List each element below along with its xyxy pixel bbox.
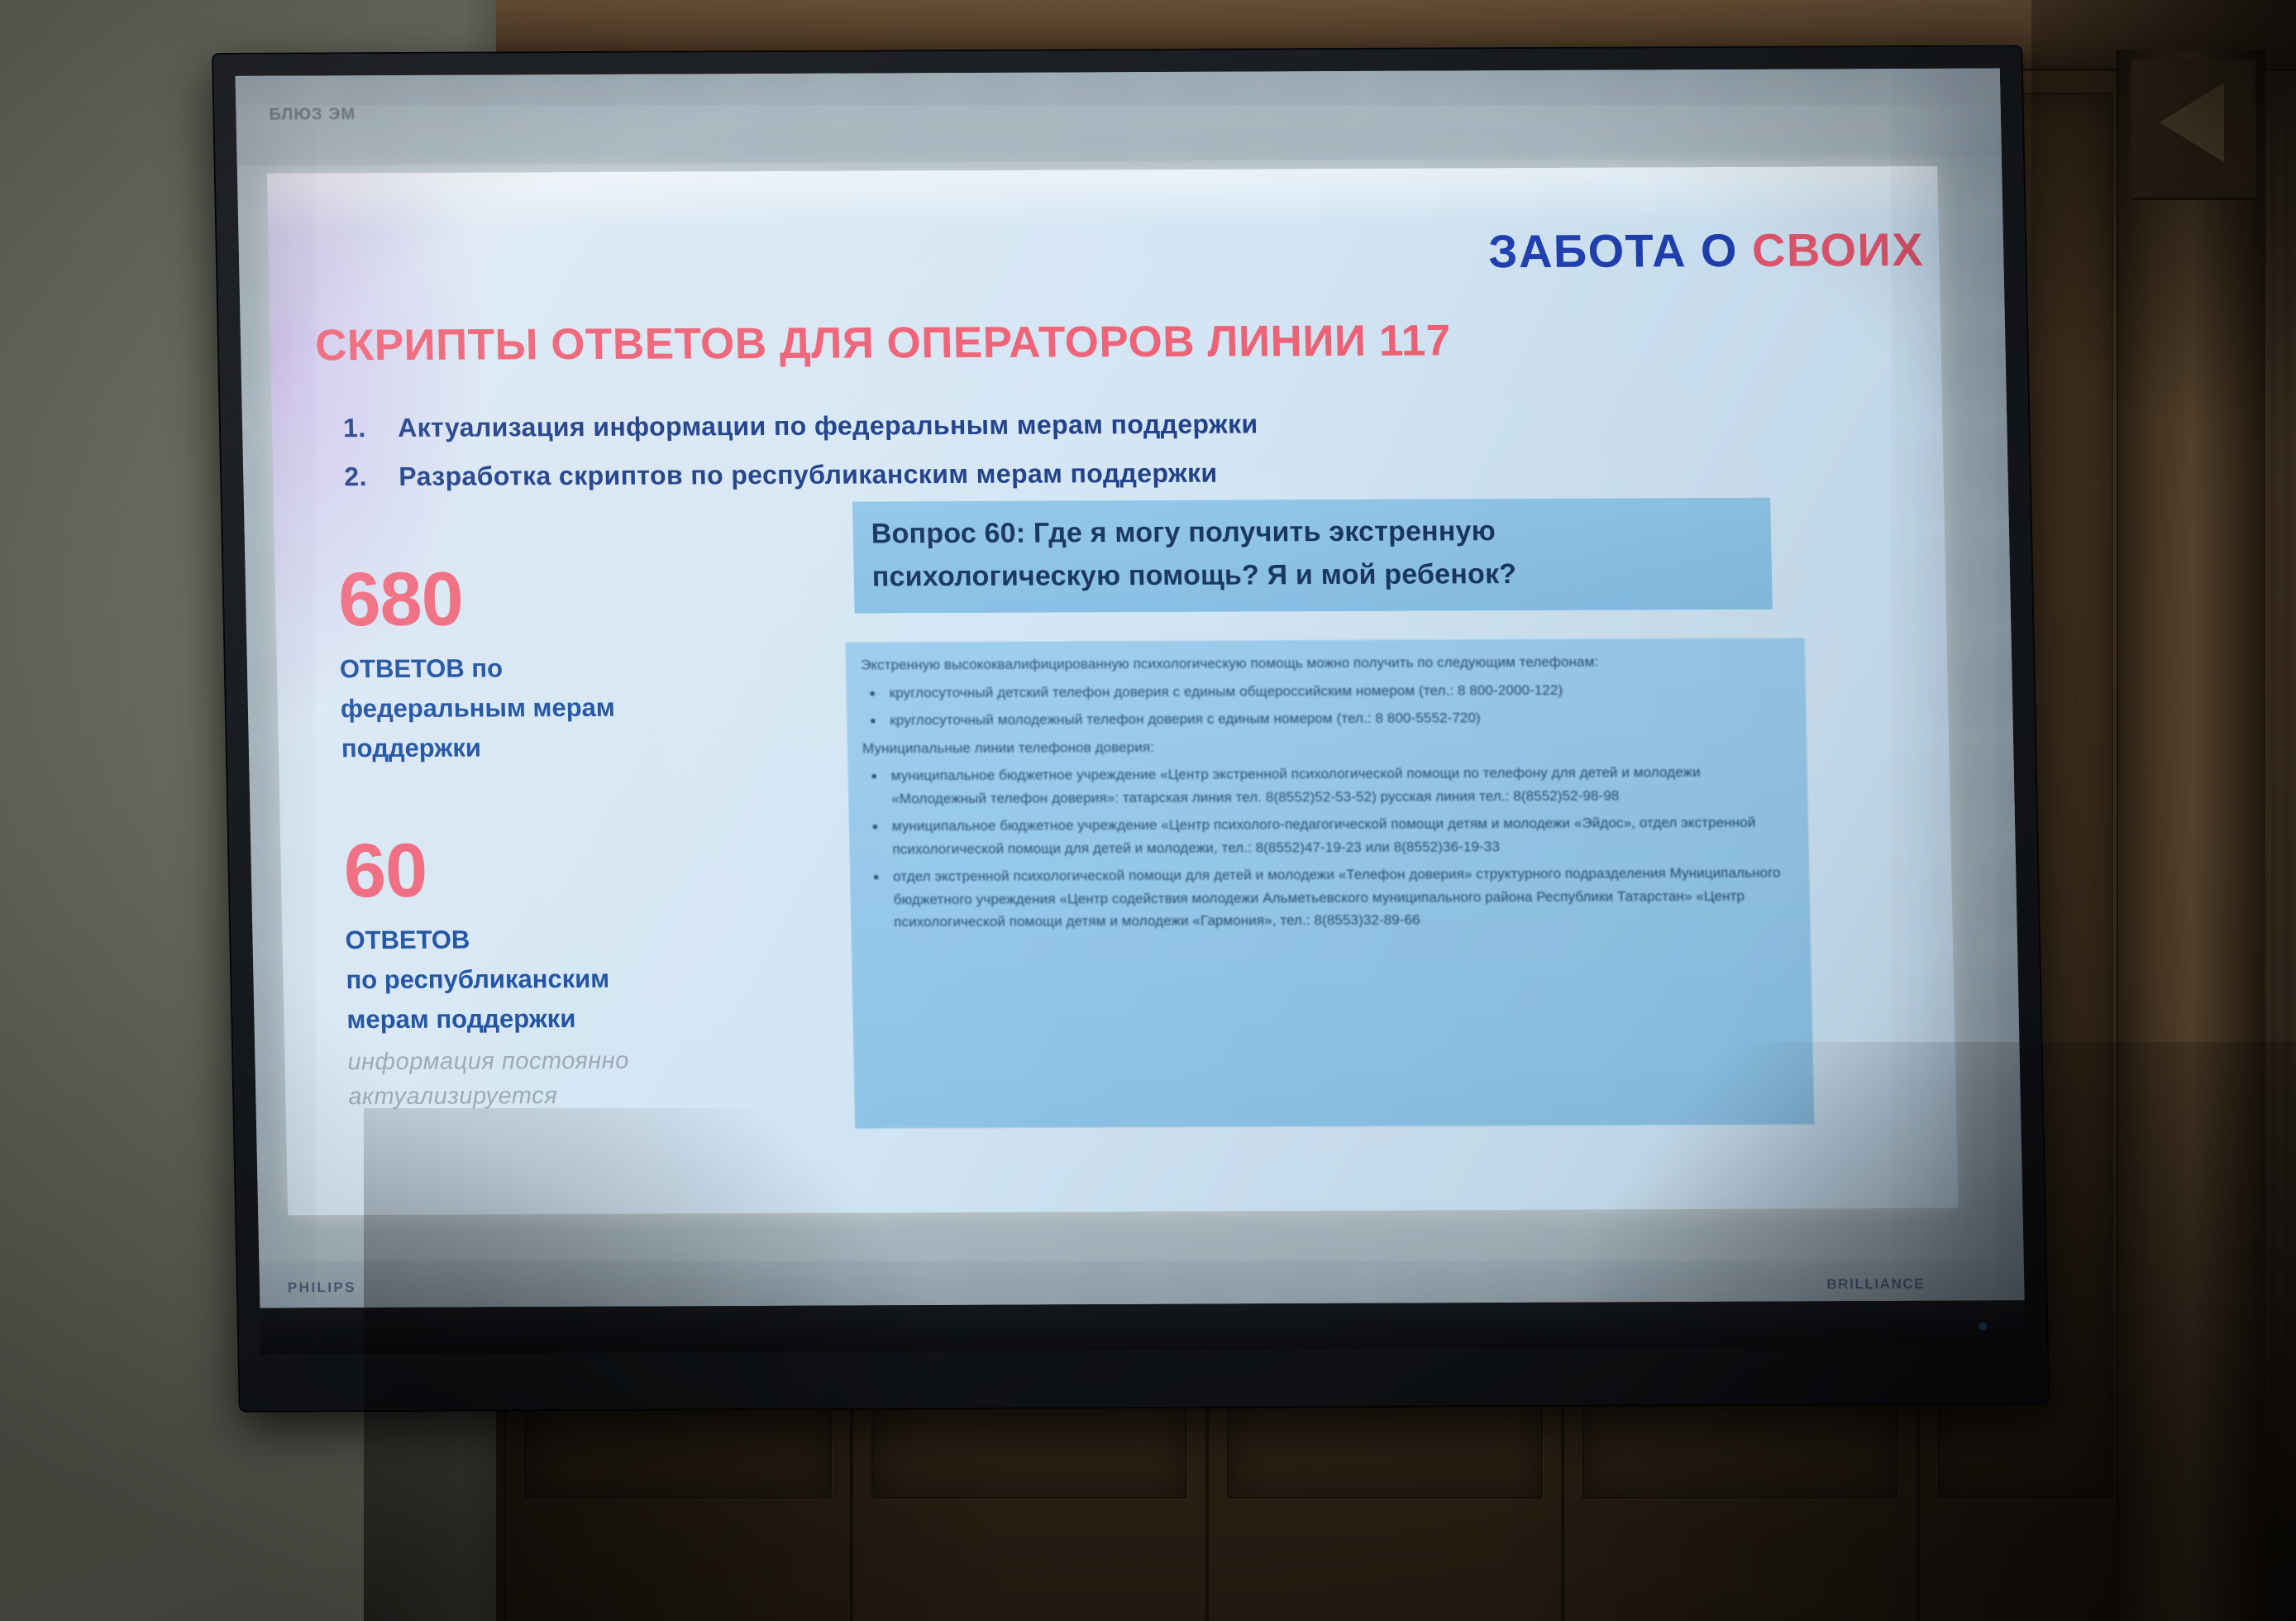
room-scene: БЛЮЗ ЭМ ЗАБОТА О СВОИХ СКРИПТЫ ОТВЕТОВ Д… <box>0 0 2296 1621</box>
corner-shadow <box>1387 1042 2296 1621</box>
kpi-label-line: федеральным мерам <box>340 687 754 729</box>
kpi-column: 680 ОТВЕТОВ по федеральным мерам поддерж… <box>337 560 761 1114</box>
kpi-label-line: мерам поддержки <box>346 998 761 1040</box>
kpi-number: 680 <box>337 560 752 638</box>
app-title-label: БЛЮЗ ЭМ <box>269 105 356 124</box>
list-item-index: 1. <box>343 413 374 443</box>
question-line: психологическую помощь? Я и мой ребенок? <box>871 552 1755 598</box>
corner-shadow <box>2031 0 2296 579</box>
kpi-label: ОТВЕТОВ по федеральным мерам поддержки <box>339 648 755 768</box>
answer-bullet: муниципальное бюджетное учреждение «Цент… <box>862 761 1789 810</box>
slide-top-fade <box>267 166 1939 232</box>
list-item: 2. Разработка скриптов по республикански… <box>344 456 1626 492</box>
answer-bullet: круглосуточный молодежный телефон довери… <box>862 705 1788 732</box>
kpi-label: ОТВЕТОВ по республиканским мерам поддерж… <box>345 919 761 1040</box>
kpi-footnote: информация постоянно актуализируется <box>347 1043 762 1114</box>
kpi-block-republican: 60 ОТВЕТОВ по республиканским мерам подд… <box>343 831 762 1114</box>
corner-shadow <box>364 1108 1108 1621</box>
answer-bullet: круглосуточный детский телефон доверия с… <box>861 677 1788 704</box>
list-item-label: Актуализация информации по федеральным м… <box>398 409 1258 443</box>
kpi-number: 60 <box>343 831 758 909</box>
slide-title: СКРИПТЫ ОТВЕТОВ ДЛЯ ОПЕРАТОРОВ ЛИНИИ 117 <box>314 315 1451 371</box>
answer-bullet: отдел экстренной психологической помощи … <box>865 862 1792 934</box>
answer-paragraph: Муниципальные линии телефонов доверия: <box>862 733 1789 759</box>
kpi-block-federal: 680 ОТВЕТОВ по федеральным мерам поддерж… <box>337 560 755 768</box>
answer-bullet: муниципальное бюджетное учреждение «Цент… <box>864 811 1791 861</box>
answer-paragraph: Экстренную высококвалифицированную психо… <box>861 650 1788 677</box>
slide-header-red-part: СВОИХ <box>1751 223 1924 276</box>
presentation-app-topbar: БЛЮЗ ЭМ <box>236 69 2002 165</box>
philips-logo: PHILIPS <box>288 1279 356 1296</box>
numbered-task-list: 1. Актуализация информации по федеральны… <box>343 408 1627 511</box>
kpi-label-line: по республиканским <box>346 959 760 1000</box>
kpi-label-line: поддержки <box>341 727 755 768</box>
list-item-index: 2. <box>344 461 375 492</box>
question-banner: Вопрос 60: Где я могу получить экстренну… <box>852 498 1773 614</box>
slide-header-blue-part: ЗАБОТА О <box>1488 224 1753 277</box>
list-item-label: Разработка скриптов по республиканским м… <box>399 458 1218 492</box>
kpi-label-line: ОТВЕТОВ <box>345 919 759 960</box>
question-line: Вопрос 60: Где я могу получить экстренну… <box>871 509 1754 556</box>
list-item: 1. Актуализация информации по федеральны… <box>343 408 1625 444</box>
slide-header: ЗАБОТА О СВОИХ <box>1488 222 1925 278</box>
kpi-label-line: ОТВЕТОВ по <box>339 648 753 689</box>
